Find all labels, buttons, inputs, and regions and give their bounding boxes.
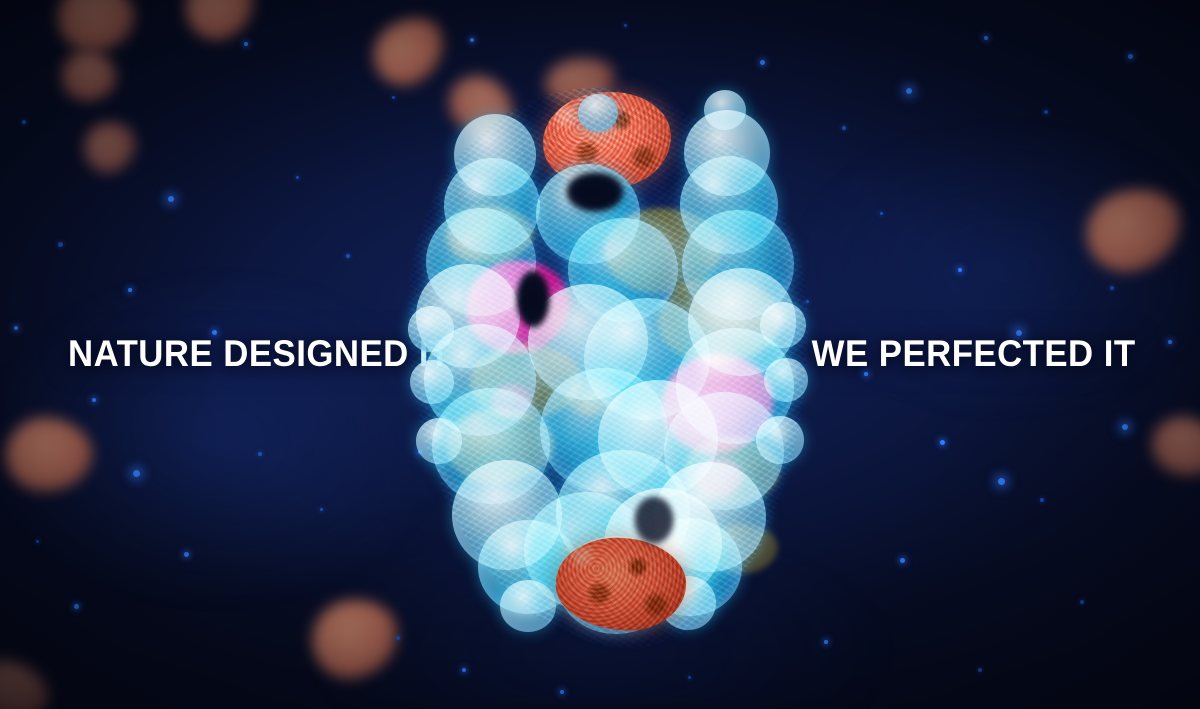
star-particle bbox=[1128, 54, 1133, 59]
star-particle bbox=[760, 60, 765, 65]
star-particle bbox=[940, 440, 945, 445]
shell-bump bbox=[578, 94, 618, 132]
olive-ribbon-domain bbox=[684, 436, 780, 506]
star-particle bbox=[842, 126, 846, 130]
star-particle bbox=[824, 640, 828, 644]
star-particle bbox=[168, 196, 174, 202]
star-particle bbox=[58, 242, 63, 247]
star-particle bbox=[958, 268, 962, 272]
star-particle bbox=[133, 470, 140, 477]
star-particle bbox=[1110, 286, 1114, 290]
star-particle bbox=[462, 668, 466, 672]
star-particle bbox=[560, 690, 564, 694]
star-particle bbox=[244, 42, 248, 46]
star-particle bbox=[1044, 110, 1048, 114]
tagline-right: WE PERFECTED IT bbox=[812, 334, 1136, 374]
star-particle bbox=[258, 452, 262, 456]
star-particle bbox=[184, 552, 189, 557]
star-particle bbox=[396, 636, 400, 640]
protein-complex bbox=[408, 88, 808, 648]
tagline-left: NATURE DESIGNED IT bbox=[68, 334, 451, 374]
star-particle bbox=[978, 668, 982, 672]
star-particle bbox=[906, 88, 912, 94]
star-particle bbox=[22, 120, 26, 124]
star-particle bbox=[1080, 600, 1084, 604]
star-particle bbox=[1168, 340, 1172, 344]
structure-gap bbox=[634, 496, 674, 544]
structure-gap bbox=[566, 172, 624, 212]
star-particle bbox=[92, 398, 96, 402]
star-particle bbox=[624, 24, 627, 27]
shell-bump bbox=[410, 360, 454, 404]
star-particle bbox=[998, 478, 1005, 485]
star-particle bbox=[1040, 498, 1044, 502]
star-particle bbox=[320, 508, 323, 511]
star-particle bbox=[36, 540, 39, 543]
star-particle bbox=[688, 676, 691, 679]
shell-bump bbox=[500, 580, 556, 632]
star-particle bbox=[14, 326, 18, 330]
star-particle bbox=[900, 558, 905, 563]
star-particle bbox=[984, 36, 988, 40]
olive-ribbon-domain bbox=[708, 524, 778, 574]
structure-gap bbox=[516, 270, 550, 328]
star-particle bbox=[392, 96, 395, 99]
star-particle bbox=[470, 38, 474, 42]
shell-bump bbox=[408, 306, 454, 352]
shell-bump bbox=[704, 90, 746, 130]
star-particle bbox=[880, 212, 883, 215]
star-particle bbox=[346, 254, 350, 258]
star-particle bbox=[296, 176, 299, 179]
star-particle bbox=[1122, 424, 1128, 430]
scene-root: NATURE DESIGNED IT WE PERFECTED IT bbox=[0, 0, 1200, 709]
star-particle bbox=[74, 604, 79, 609]
star-particle bbox=[128, 288, 132, 292]
